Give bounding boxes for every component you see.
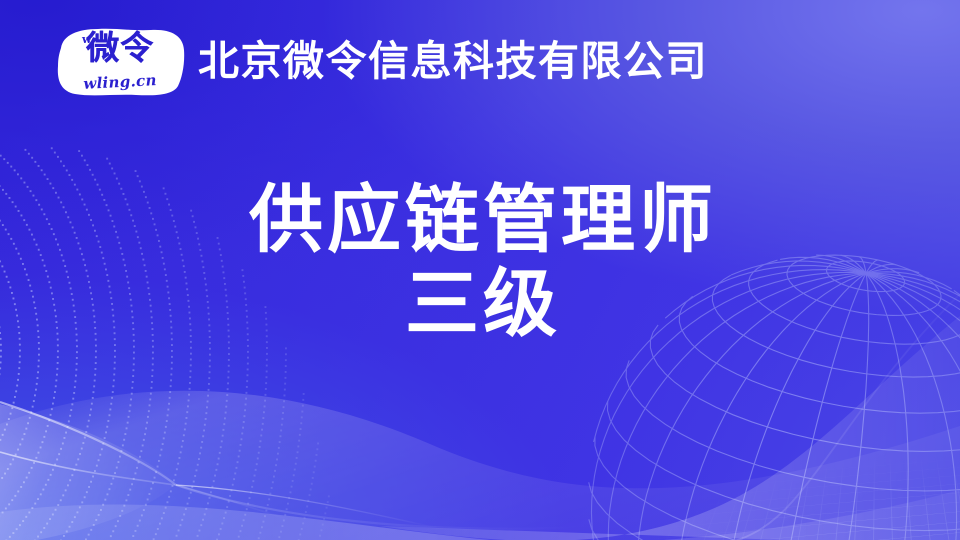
banner-slide: 微令 w wling.cn 北京微令信息科技有限公司 供应链管理师 三级	[0, 0, 960, 540]
company-name: 北京微令信息科技有限公司	[198, 41, 708, 84]
page-title: 供应链管理师 三级	[0, 178, 960, 345]
logo-wordmark: 微令	[52, 30, 188, 66]
logo-accent-letter: w	[82, 33, 91, 46]
company-logo[interactable]: 微令 w wling.cn	[52, 26, 188, 98]
header: 微令 w wling.cn 北京微令信息科技有限公司	[52, 26, 708, 98]
title-line-1: 供应链管理师	[6, 178, 960, 262]
title-line-2: 三级	[6, 262, 960, 346]
